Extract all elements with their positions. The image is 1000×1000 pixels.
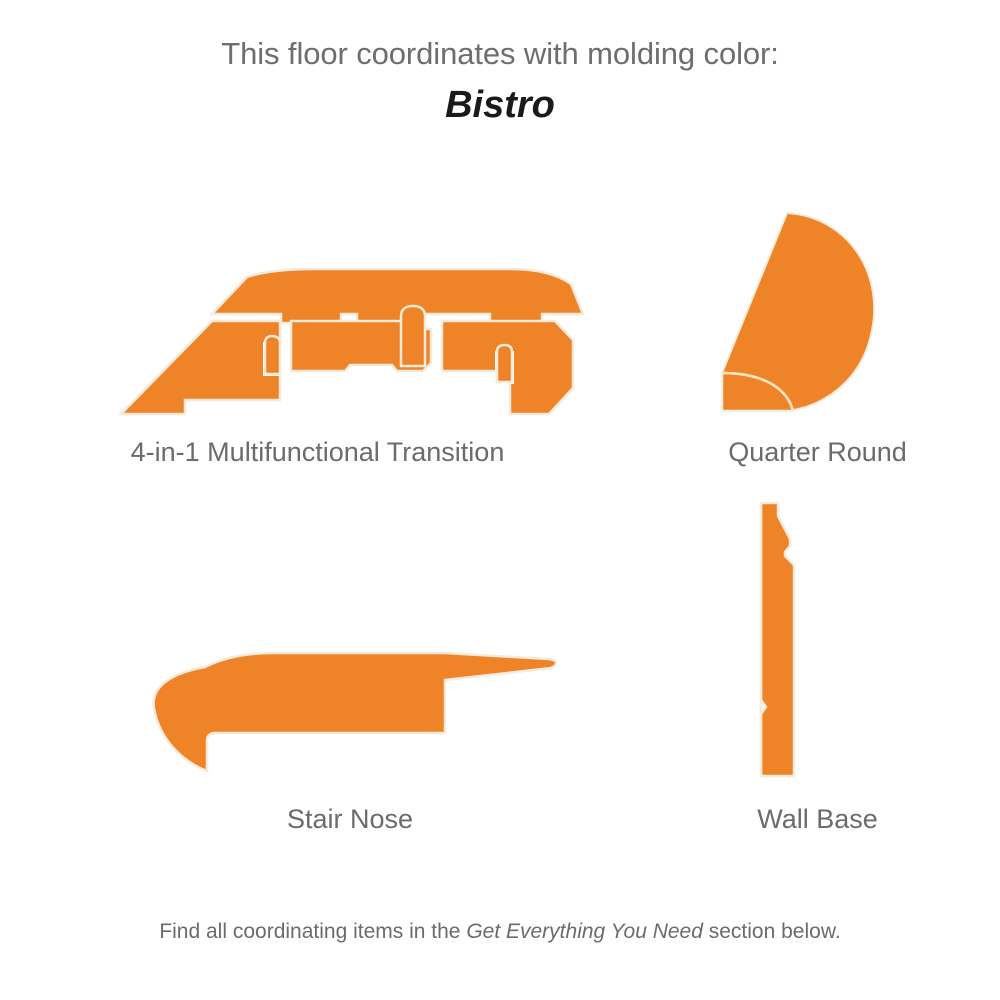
product-art-stair-nose <box>0 630 700 790</box>
molding-color-name: Bistro <box>0 83 1000 127</box>
quarter-round-molding-icon <box>675 205 885 420</box>
product-art-quarter-round <box>635 200 1000 425</box>
wall-base-profile-icon <box>745 495 835 785</box>
product-cell-stair-nose[interactable]: Stair Nose <box>0 630 700 790</box>
footer-emphasis: Get Everything You Need <box>466 920 703 943</box>
product-label-quarter-round: Quarter Round <box>635 436 1000 468</box>
molding-coordination-panel: This floor coordinates with molding colo… <box>0 0 1000 1000</box>
product-art-wall-base <box>635 490 1000 790</box>
product-cell-wall-base[interactable]: Wall Base <box>635 490 1000 790</box>
panel-header: This floor coordinates with molding colo… <box>0 34 1000 127</box>
product-label-wall-base: Wall Base <box>635 803 1000 835</box>
footer-text-before: Find all coordinating items in the <box>159 920 466 943</box>
stair-nose-profile-icon <box>145 645 565 785</box>
four-in-one-multifunctional-transition-profile-icon <box>105 268 605 423</box>
page-title: This floor coordinates with molding colo… <box>0 34 1000 74</box>
product-art-transition <box>0 260 635 425</box>
footer-note: Find all coordinating items in the Get E… <box>0 918 1000 946</box>
product-label-stair-nose: Stair Nose <box>0 803 700 835</box>
product-cell-transition[interactable]: 4-in-1 Multifunctional Transition <box>0 260 635 425</box>
product-cell-quarter-round[interactable]: Quarter Round <box>635 200 1000 425</box>
footer-text-after: section below. <box>703 920 841 943</box>
product-label-transition: 4-in-1 Multifunctional Transition <box>0 436 635 468</box>
